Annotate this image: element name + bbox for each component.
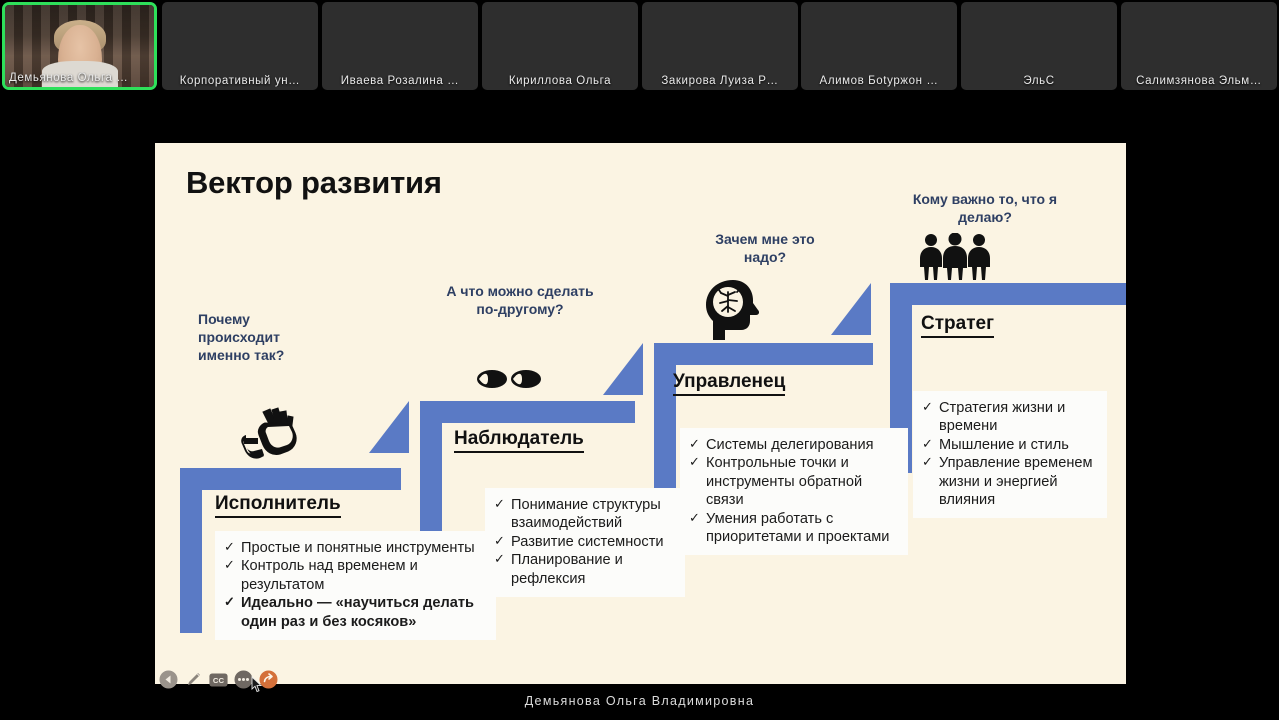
- active-speaker-name: Демьянова Ольга Владимировна: [0, 694, 1279, 708]
- shared-slide: Вектор развития Почему происходит именно…: [155, 143, 1126, 684]
- step-riser-2: [603, 343, 643, 395]
- check-icon: ✓: [922, 436, 933, 452]
- role-title-2: Управленец: [673, 371, 785, 396]
- participant-tile-0[interactable]: Демьянова Ольга …: [2, 2, 157, 90]
- check-icon: ✓: [494, 551, 505, 567]
- back-arrow-icon[interactable]: [159, 670, 178, 689]
- list-item: ✓ Планирование и рефлексия: [493, 551, 675, 588]
- role-title-1: Наблюдатель: [454, 428, 584, 453]
- role-title-0: Исполнитель: [215, 493, 341, 518]
- list-item: ✓ Контроль над временем и результатом: [223, 557, 486, 594]
- role-title-3: Стратег: [921, 313, 994, 338]
- svg-text:CC: CC: [213, 676, 225, 685]
- list-item: ✓ Контрольные точки и инструменты обратн…: [688, 454, 898, 509]
- check-icon: ✓: [494, 496, 505, 512]
- role-card-1: ✓ Понимание структуры взаимодействий ✓ Р…: [485, 488, 685, 597]
- step-riser-1: [369, 401, 409, 453]
- participant-tile-2[interactable]: Иваева Розалина …: [322, 2, 478, 90]
- cc-icon[interactable]: CC: [209, 670, 228, 689]
- participant-name-7: Салимзянова Эльм…: [1121, 75, 1277, 87]
- page-title: Вектор развития: [186, 165, 442, 201]
- list-item: ✓ Управление временем жизни и энергией в…: [921, 454, 1097, 509]
- participant-tile-4[interactable]: Закирова Луиза Р…: [642, 2, 798, 90]
- step-bar-horizontal-2: [654, 343, 873, 365]
- participant-filmstrip: Демьянова Ольга … Корпоративный ун… Ивае…: [0, 0, 1279, 92]
- list-item: ✓ Системы делегирования: [688, 436, 898, 454]
- step-riser-3: [831, 283, 871, 335]
- step-question-3: Кому важно то, что я делаю?: [885, 191, 1085, 227]
- bullet-list-1: ✓ Понимание структуры взаимодействий ✓ Р…: [493, 496, 675, 588]
- list-item: ✓ Стратегия жизни и времени: [921, 399, 1097, 436]
- step-question-1: А что можно сделать по-другому?: [420, 283, 620, 319]
- clapping-hands-icon: [240, 405, 298, 466]
- step-bar-horizontal-3: [890, 283, 1126, 305]
- list-item: ✓ Идеально — «научиться делать один раз …: [223, 594, 486, 631]
- list-item: ✓ Мышление и стиль: [921, 436, 1097, 454]
- check-icon: ✓: [494, 533, 505, 549]
- step-bar-horizontal-0: [180, 468, 401, 490]
- participant-tile-1[interactable]: Корпоративный ун…: [162, 2, 318, 90]
- bullet-list-2: ✓ Системы делегирования ✓ Контрольные то…: [688, 436, 898, 546]
- participant-name-0: Демьянова Ольга …: [5, 72, 154, 84]
- list-item: ✓ Понимание структуры взаимодействий: [493, 496, 675, 533]
- step-bar-vertical-0: [180, 468, 202, 633]
- check-icon: ✓: [689, 510, 700, 526]
- role-card-2: ✓ Системы делегирования ✓ Контрольные то…: [680, 428, 908, 555]
- step-question-0: Почему происходит именно так?: [198, 311, 348, 365]
- mouse-cursor: [251, 676, 263, 693]
- three-people-icon: [917, 233, 993, 286]
- check-icon: ✓: [922, 454, 933, 470]
- participant-tile-6[interactable]: ЭльС: [961, 2, 1117, 90]
- role-card-0: ✓ Простые и понятные инструменты ✓ Контр…: [215, 531, 496, 640]
- step-question-2: Зачем мне это надо?: [680, 231, 850, 267]
- step-bar-horizontal-1: [420, 401, 635, 423]
- participant-name-2: Иваева Розалина …: [322, 75, 478, 87]
- participant-name-6: ЭльС: [961, 75, 1117, 87]
- participant-name-1: Корпоративный ун…: [162, 75, 318, 87]
- pencil-icon[interactable]: [184, 670, 203, 689]
- role-card-3: ✓ Стратегия жизни и времени ✓ Мышление и…: [913, 391, 1107, 518]
- bullet-list-3: ✓ Стратегия жизни и времени ✓ Мышление и…: [921, 399, 1097, 509]
- list-item: ✓ Развитие системности: [493, 533, 675, 551]
- list-item: ✓ Простые и понятные инструменты: [223, 539, 486, 557]
- brain-head-icon: [703, 278, 763, 347]
- check-icon: ✓: [689, 436, 700, 452]
- check-icon: ✓: [689, 454, 700, 470]
- participant-tile-3[interactable]: Кириллова Ольга: [482, 2, 638, 90]
- check-icon: ✓: [922, 399, 933, 415]
- participant-name-4: Закирова Луиза Р…: [642, 75, 798, 87]
- participant-tile-7[interactable]: Салимзянова Эльм…: [1121, 2, 1277, 90]
- list-item: ✓ Умения работать с приоритетами и проек…: [688, 510, 898, 547]
- check-icon: ✓: [224, 557, 235, 573]
- participant-name-3: Кириллова Ольга: [482, 75, 638, 87]
- eyes-icon: [476, 366, 542, 397]
- bullet-list-0: ✓ Простые и понятные инструменты ✓ Контр…: [223, 539, 486, 631]
- participant-name-5: Алимов Боtуржон …: [801, 75, 957, 87]
- check-icon: ✓: [224, 539, 235, 555]
- screen-share-window: Демьянова Ольга … Корпоративный ун… Ивае…: [0, 0, 1279, 720]
- participant-tile-5[interactable]: Алимов Боtуржон …: [801, 2, 957, 90]
- check-icon: ✓: [224, 594, 235, 610]
